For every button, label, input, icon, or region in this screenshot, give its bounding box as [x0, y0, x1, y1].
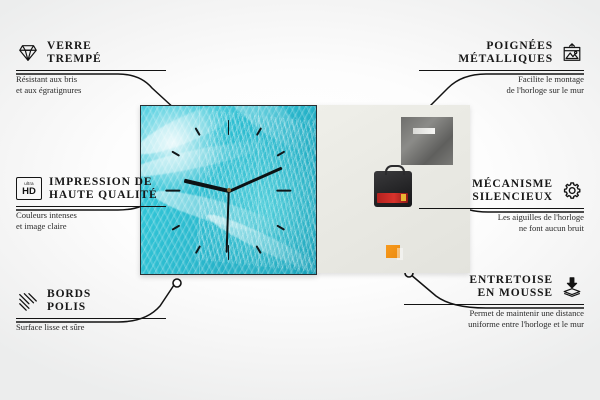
- feature-description-line: Permet de maintenir une distance: [404, 308, 584, 319]
- feature-title-line: MÉCANISME: [472, 178, 553, 191]
- infographic-canvas: VERRE TREMPÉ Résistant aux bris et aux é…: [0, 0, 600, 400]
- feature-description-line: Surface lisse et sûre: [16, 322, 166, 333]
- feature-title: IMPRESSION DE HAUTE QUALITÉ: [49, 176, 158, 202]
- hanger-loop: [385, 165, 405, 175]
- feature-title-line: HAUTE QUALITÉ: [49, 189, 158, 202]
- feature-description: Surface lisse et sûre: [16, 322, 166, 333]
- battery: [377, 193, 408, 203]
- feature-divider: [16, 318, 166, 319]
- clock-center-cap: [227, 188, 231, 192]
- feature-description-line: Résistant aux bris: [16, 74, 166, 85]
- feature-title-line: EN MOUSSE: [469, 287, 553, 300]
- polished-edges-icon: [16, 290, 40, 312]
- feature-title: MÉCANISME SILENCIEUX: [472, 178, 553, 204]
- feature-divider: [404, 304, 584, 305]
- feature-title-line: SILENCIEUX: [472, 191, 553, 204]
- metal-hanger: [401, 117, 453, 165]
- feature-title: BORDS POLIS: [47, 288, 91, 314]
- foam-spacer: [386, 245, 400, 258]
- feature-mecanisme-silencieux: MÉCANISME SILENCIEUX Les aiguilles de l'…: [419, 178, 584, 234]
- feature-description-line: Les aiguilles de l'horloge: [419, 212, 584, 223]
- hd-label: HD: [22, 187, 36, 197]
- feature-impression-haute-qualite: ultra HD IMPRESSION DE HAUTE QUALITÉ Cou…: [16, 176, 166, 232]
- feature-description-line: de l'horloge sur le mur: [419, 85, 584, 96]
- feature-description: Couleurs intenses et image claire: [16, 210, 166, 232]
- feature-description-line: Facilite le montage: [419, 74, 584, 85]
- feature-divider: [419, 208, 584, 209]
- clock-front-face: [140, 105, 317, 275]
- feature-description: Facilite le montage de l'horloge sur le …: [419, 74, 584, 96]
- feature-title-line: MÉTALLIQUES: [458, 53, 553, 66]
- foam-spacer-icon: [560, 276, 584, 298]
- feature-title: VERRE TREMPÉ: [47, 40, 102, 66]
- feature-title-line: POLIS: [47, 301, 91, 314]
- feature-bords-polis: BORDS POLIS Surface lisse et sûre: [16, 288, 166, 333]
- feature-description: Permet de maintenir une distance uniform…: [404, 308, 584, 330]
- connector-dot-bords-polis: [173, 279, 181, 287]
- clock-tick: [165, 189, 180, 191]
- diamond-icon: [16, 42, 40, 64]
- feature-title-line: BORDS: [47, 288, 91, 301]
- feature-description-line: et aux égratignures: [16, 85, 166, 96]
- feature-title-line: ENTRETOISE: [469, 274, 553, 287]
- feature-title: ENTRETOISE EN MOUSSE: [469, 274, 553, 300]
- feature-entretoise-en-mousse: ENTRETOISE EN MOUSSE Permet de maintenir…: [404, 274, 584, 330]
- framed-picture-icon: [560, 42, 584, 64]
- feature-divider: [16, 70, 166, 71]
- clock-tick: [276, 189, 291, 191]
- feature-verre-trempe: VERRE TREMPÉ Résistant aux bris et aux é…: [16, 40, 166, 96]
- feature-title-line: TREMPÉ: [47, 53, 102, 66]
- feature-description-line: uniforme entre l'horloge et le mur: [404, 319, 584, 330]
- feature-divider: [419, 70, 584, 71]
- feature-heading: ultra HD IMPRESSION DE HAUTE QUALITÉ: [16, 176, 166, 202]
- feature-poignees-metalliques: POIGNÉES MÉTALLIQUES Facilite le montage…: [419, 40, 584, 96]
- feature-heading: POIGNÉES MÉTALLIQUES: [419, 40, 584, 66]
- feature-heading: BORDS POLIS: [16, 288, 166, 314]
- gear-icon: [560, 180, 584, 202]
- feature-heading: ENTRETOISE EN MOUSSE: [404, 274, 584, 300]
- feature-description-line: Couleurs intenses: [16, 210, 166, 221]
- quartz-movement: [374, 171, 412, 207]
- feature-title-line: VERRE: [47, 40, 102, 53]
- feature-description: Les aiguilles de l'horloge ne font aucun…: [419, 212, 584, 234]
- feature-title-line: IMPRESSION DE: [49, 176, 158, 189]
- glass-seam: [199, 106, 200, 274]
- feature-heading: MÉCANISME SILENCIEUX: [419, 178, 584, 204]
- feature-description-line: ne font aucun bruit: [419, 223, 584, 234]
- feature-description: Résistant aux bris et aux égratignures: [16, 74, 166, 96]
- feature-divider: [16, 206, 166, 207]
- clock-tick: [172, 225, 181, 231]
- ultra-hd-icon: ultra HD: [16, 177, 42, 200]
- feature-title-line: POIGNÉES: [458, 40, 553, 53]
- feature-title: POIGNÉES MÉTALLIQUES: [458, 40, 553, 66]
- feature-heading: VERRE TREMPÉ: [16, 40, 166, 66]
- feature-description-line: et image claire: [16, 221, 166, 232]
